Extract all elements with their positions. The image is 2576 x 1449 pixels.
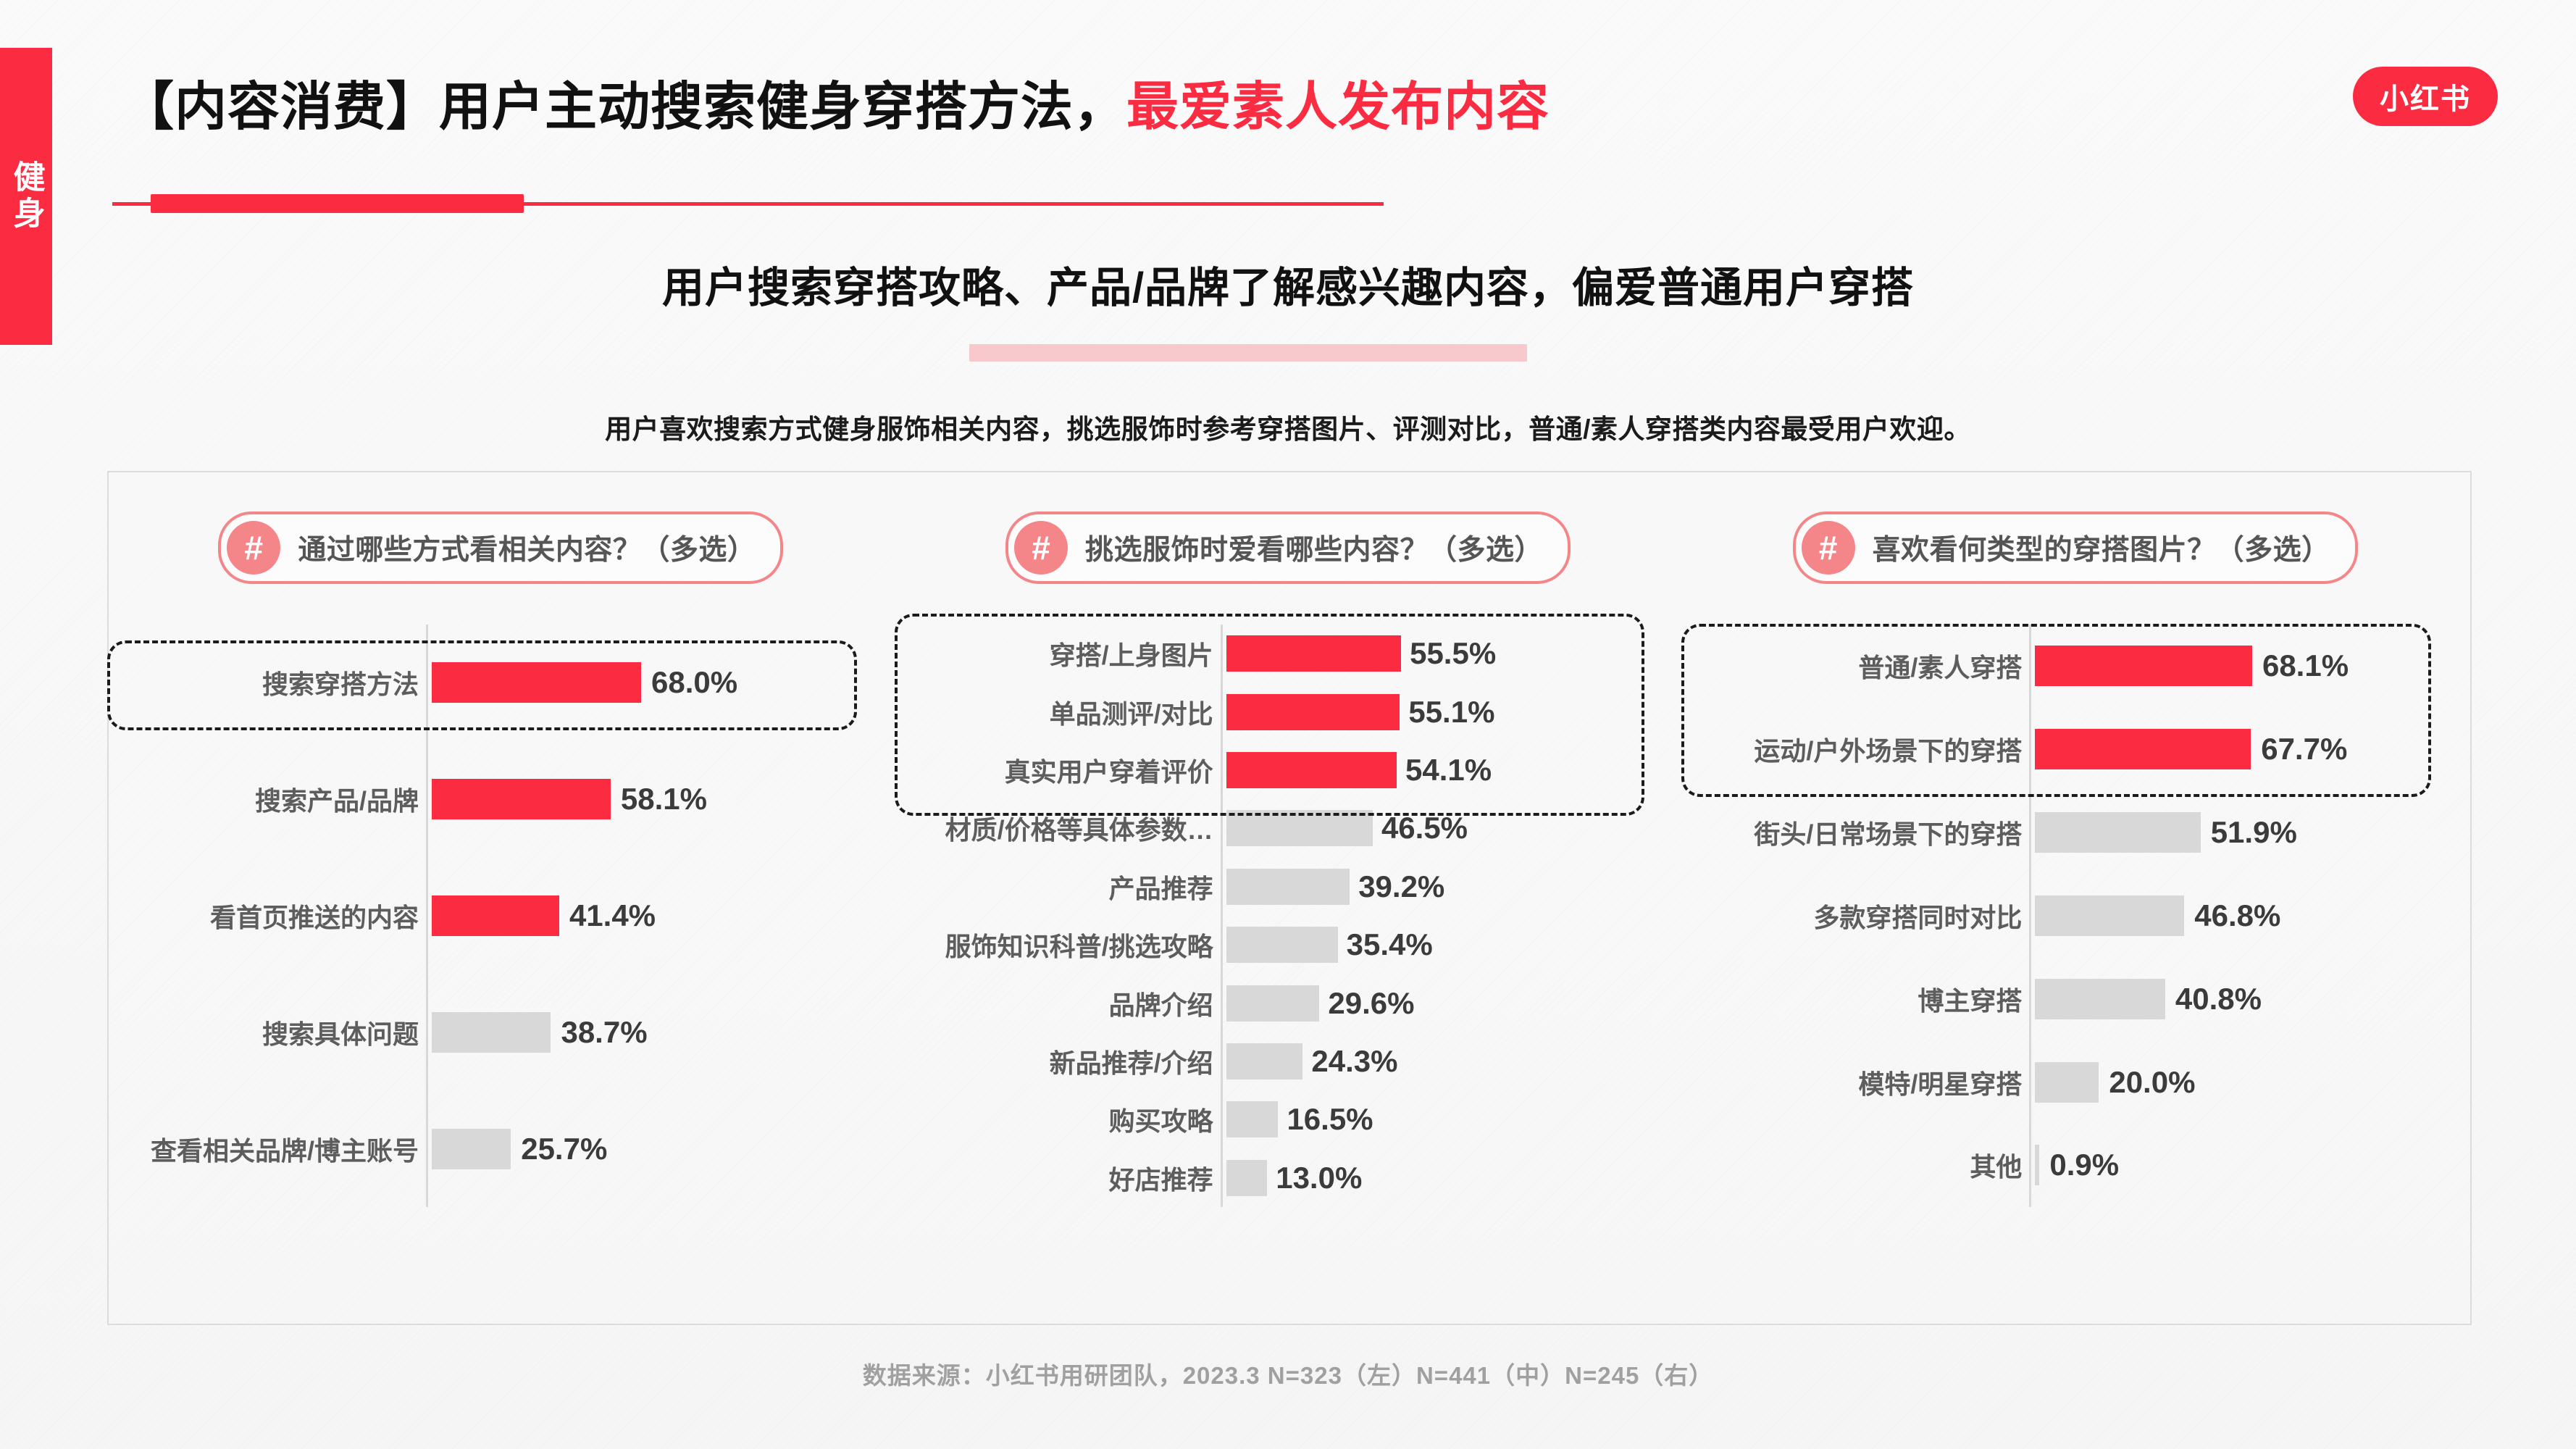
bar-row: 模特/明星穿搭20.0% (1681, 1062, 2469, 1103)
bar-row-label: 穿搭/上身图片 (895, 635, 1226, 672)
bar-row-label: 看首页推送的内容 (107, 897, 432, 935)
bar-row-label: 真实用户穿着评价 (895, 751, 1226, 789)
bar (2035, 979, 2165, 1019)
bar-row: 好店推荐13.0% (895, 1160, 1682, 1196)
bar-row: 产品推荐39.2% (895, 869, 1682, 905)
bar-value-label: 41.4% (559, 898, 656, 933)
bar-row-label: 搜索穿搭方法 (107, 664, 432, 701)
subtitle-highlight-bar (969, 344, 1527, 362)
title-underline-accent (151, 194, 524, 213)
bar-row: 品牌介绍29.6% (895, 985, 1682, 1022)
hash-icon: # (1802, 521, 1855, 575)
bar-row-label: 街头/日常场景下的穿搭 (1681, 814, 2035, 851)
bar-row: 购买攻略16.5% (895, 1101, 1682, 1137)
logo-text: 小红书 (2380, 75, 2471, 117)
side-category-label: 健身 (8, 160, 43, 233)
bar-row: 街头/日常场景下的穿搭51.9% (1681, 812, 2469, 853)
bar (1226, 1043, 1303, 1080)
hash-icon: # (1014, 521, 1068, 575)
data-source-footnote: 数据来源：小红书用研团队，2023.3 N=323（左）N=441（中）N=24… (0, 1356, 2576, 1391)
bar-row-label: 好店推荐 (895, 1159, 1226, 1197)
bar (1226, 1101, 1279, 1137)
bar-value-label: 29.6% (1319, 986, 1414, 1021)
bar-row-label: 品牌介绍 (895, 985, 1226, 1022)
bar-row-label: 运动/户外场景下的穿搭 (1681, 730, 2035, 768)
bar (432, 1012, 551, 1053)
bar (432, 779, 611, 819)
bar-row-label: 服饰知识科普/挑选攻略 (895, 926, 1226, 964)
page-subtitle: 用户搜索穿搭攻略、产品/品牌了解感兴趣内容，偏爱普通用户穿搭 (0, 254, 2576, 314)
bar (1226, 752, 1397, 788)
bar-value-label: 13.0% (1267, 1161, 1362, 1195)
bar-value-label: 55.5% (1401, 636, 1496, 671)
bar-value-label: 68.0% (641, 665, 737, 700)
bar-value-label: 68.1% (2252, 648, 2349, 683)
bar-row: 搜索穿搭方法68.0% (107, 662, 895, 703)
section-title-1: 通过哪些方式看相关内容？（多选） (298, 527, 756, 568)
page-description: 用户喜欢搜索方式健身服饰相关内容，挑选服饰时参考穿搭图片、评测对比，普通/素人穿… (0, 407, 2576, 446)
bar-value-label: 55.1% (1400, 695, 1494, 730)
section-title-2: 挑选服饰时爱看哪些内容？（多选） (1085, 527, 1543, 568)
bar (1226, 869, 1350, 905)
bar (2035, 812, 2200, 853)
bar-row-label: 购买攻略 (895, 1101, 1226, 1138)
bar-value-label: 20.0% (2099, 1065, 2195, 1100)
section-header-3: # 喜欢看何类型的穿搭图片？（多选） (1793, 511, 2358, 584)
bar-row: 新品推荐/介绍24.3% (895, 1043, 1682, 1080)
bar-chart-3: 普通/素人穿搭68.1%运动/户外场景下的穿搭67.7%街头/日常场景下的穿搭5… (1681, 625, 2469, 1240)
bar-row-label: 博主穿搭 (1681, 980, 2035, 1018)
bar-row-list: 搜索穿搭方法68.0%搜索产品/品牌58.1%看首页推送的内容41.4%搜索具体… (107, 625, 895, 1207)
bar (1226, 635, 1401, 672)
bar-row: 其他0.9% (1681, 1145, 2469, 1185)
bar-value-label: 24.3% (1302, 1044, 1397, 1079)
bar-value-label: 35.4% (1338, 927, 1433, 962)
bar-row-label: 单品测评/对比 (895, 693, 1226, 731)
bar (2035, 729, 2251, 769)
chart-columns: # 通过哪些方式看相关内容？（多选） 搜索穿搭方法68.0%搜索产品/品牌58.… (107, 471, 2469, 1322)
page-title-red: 最爱素人发布内容 (1126, 78, 1550, 136)
bar-row-label: 多款穿搭同时对比 (1681, 897, 2035, 935)
hash-icon: # (227, 521, 280, 575)
bar (432, 1129, 511, 1169)
bar (1226, 927, 1338, 963)
bar (2035, 646, 2252, 686)
bar-value-label: 58.1% (611, 782, 707, 817)
bar-value-label: 54.1% (1397, 753, 1492, 788)
bar-value-label: 16.5% (1278, 1102, 1373, 1137)
bar-row: 搜索具体问题38.7% (107, 1012, 895, 1053)
section-title-3: 喜欢看何类型的穿搭图片？（多选） (1873, 527, 2330, 568)
bar-value-label: 46.8% (2184, 898, 2280, 933)
bar-value-label: 40.8% (2165, 982, 2262, 1016)
section-header-2: # 挑选服饰时爱看哪些内容？（多选） (1005, 511, 1571, 584)
bar (2035, 1062, 2099, 1103)
xiaohongshu-logo: 小红书 (2353, 67, 2498, 126)
bar (1226, 985, 1320, 1022)
bar-row-label: 搜索产品/品牌 (107, 780, 432, 818)
bar-chart-2: 穿搭/上身图片55.5%单品测评/对比55.1%真实用户穿着评价54.1%材质/… (895, 625, 1682, 1240)
bar (1226, 1160, 1268, 1196)
bar-chart-1: 搜索穿搭方法68.0%搜索产品/品牌58.1%看首页推送的内容41.4%搜索具体… (107, 625, 895, 1240)
bar-row-label: 材质/价格等具体参数… (895, 809, 1226, 847)
bar-row: 真实用户穿着评价54.1% (895, 752, 1682, 788)
bar-row-label: 搜索具体问题 (107, 1014, 432, 1051)
bar-row-label: 其他 (1681, 1146, 2035, 1184)
bar-row: 单品测评/对比55.1% (895, 694, 1682, 730)
bar-value-label: 39.2% (1350, 869, 1444, 904)
bar-row: 查看相关品牌/博主账号25.7% (107, 1129, 895, 1169)
section-header-1: # 通过哪些方式看相关内容？（多选） (218, 511, 783, 584)
bar-value-label: 38.7% (551, 1015, 647, 1050)
bar-row-label: 普通/素人穿搭 (1681, 647, 2035, 685)
bar (432, 895, 559, 936)
bar-value-label: 67.7% (2251, 732, 2347, 767)
bar-value-label: 51.9% (2201, 815, 2297, 850)
bar-row: 看首页推送的内容41.4% (107, 895, 895, 936)
bar-row: 材质/价格等具体参数…46.5% (895, 810, 1682, 846)
bar-row: 穿搭/上身图片55.5% (895, 635, 1682, 672)
bar-row-list: 普通/素人穿搭68.1%运动/户外场景下的穿搭67.7%街头/日常场景下的穿搭5… (1681, 625, 2469, 1207)
bar-value-label: 46.5% (1373, 811, 1468, 845)
chart-column-1: # 通过哪些方式看相关内容？（多选） 搜索穿搭方法68.0%搜索产品/品牌58.… (107, 471, 895, 1322)
bar-row: 普通/素人穿搭68.1% (1681, 646, 2469, 686)
chart-column-2: # 挑选服饰时爱看哪些内容？（多选） 穿搭/上身图片55.5%单品测评/对比55… (895, 471, 1682, 1322)
chart-column-3: # 喜欢看何类型的穿搭图片？（多选） 普通/素人穿搭68.1%运动/户外场景下的… (1681, 471, 2469, 1322)
page-title: 【内容消费】用户主动搜索健身穿搭方法，最爱素人发布内容 (122, 78, 2367, 137)
page-title-black: 【内容消费】用户主动搜索健身穿搭方法， (122, 78, 1126, 136)
bar (2035, 895, 2184, 936)
bar-row-label: 产品推荐 (895, 868, 1226, 906)
bar (432, 662, 641, 703)
bar (1226, 694, 1400, 730)
bar-value-label: 0.9% (2039, 1148, 2119, 1182)
bar-row: 博主穿搭40.8% (1681, 979, 2469, 1019)
bar (1226, 810, 1373, 846)
bar-row-label: 模特/明星穿搭 (1681, 1064, 2035, 1101)
bar-value-label: 25.7% (511, 1132, 607, 1166)
bar-row: 多款穿搭同时对比46.8% (1681, 895, 2469, 936)
bar-row-label: 新品推荐/介绍 (895, 1043, 1226, 1080)
bar-row-label: 查看相关品牌/博主账号 (107, 1130, 432, 1168)
bar-row: 运动/户外场景下的穿搭67.7% (1681, 729, 2469, 769)
bar-row: 搜索产品/品牌58.1% (107, 779, 895, 819)
bar-row-list: 穿搭/上身图片55.5%单品测评/对比55.1%真实用户穿着评价54.1%材质/… (895, 625, 1682, 1207)
bar-row: 服饰知识科普/挑选攻略35.4% (895, 927, 1682, 963)
